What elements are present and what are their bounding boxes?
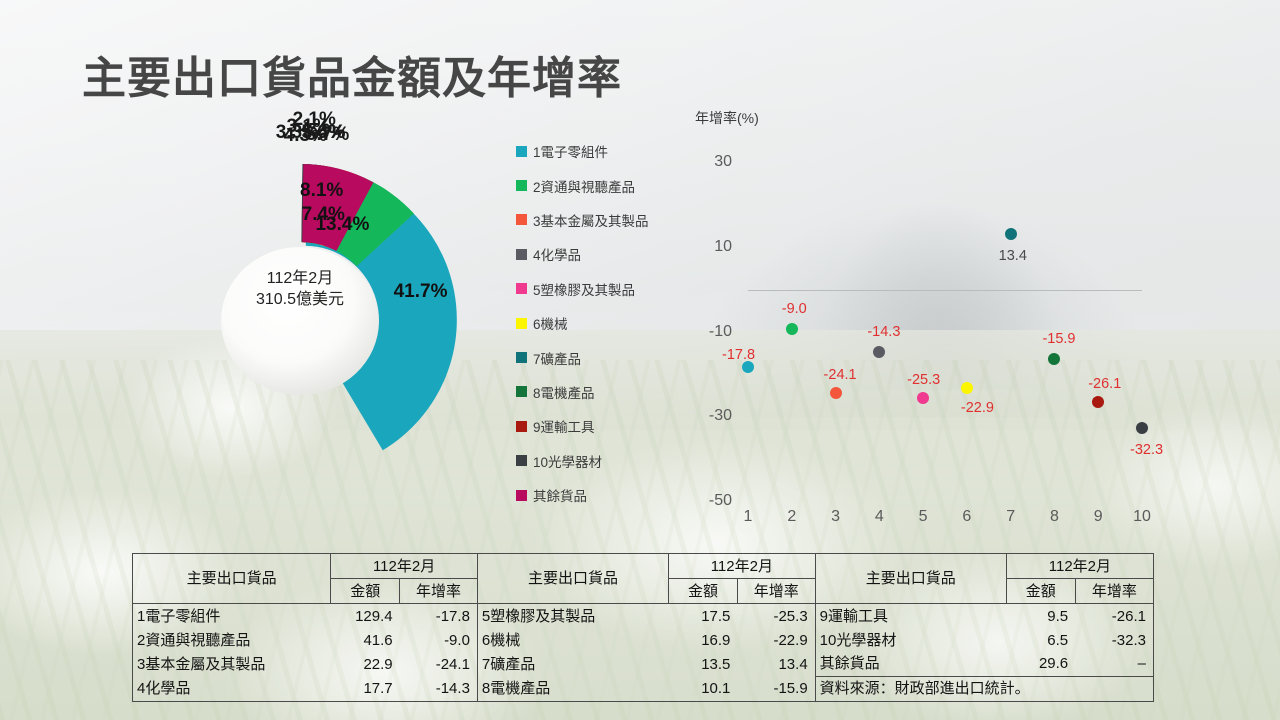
table-header-growth: 年增率 [1075,579,1153,604]
scatter-x-tick-label: 5 [910,508,936,526]
table-cell-growth: 13.4 [737,652,815,677]
table-cell-growth: -26.1 [1075,604,1153,629]
table-header-growth: 年增率 [737,579,815,604]
scatter-y-tick-label: -10 [688,323,732,341]
table-row: 2資通與視聽產品41.6-9.06機械16.9-22.910光學器材6.5-32… [133,628,1153,652]
legend-item-label: 7礦產品 [533,348,581,368]
table-header-period: 112年2月 [1006,554,1153,579]
table-cell-item: 6機械 [477,628,668,652]
scatter-point[interactable] [961,382,973,394]
table-cell-amount: 6.5 [1006,628,1075,652]
scatter-y-tick-label: -50 [688,492,732,510]
legend-swatch-icon [516,386,527,397]
table-cell-amount: 10.1 [669,676,738,701]
scatter-point[interactable] [786,323,798,335]
legend-item-label: 9運輸工具 [533,416,595,436]
legend-item[interactable]: 1電子零組件 [516,134,649,168]
table-cell-growth: -32.3 [1075,628,1153,652]
table-cell-item: 5塑橡膠及其製品 [477,604,668,629]
donut-slice-label: 41.7% [394,281,448,303]
scatter-point-label: -24.1 [824,367,857,383]
table-header-amount: 金額 [669,579,738,604]
table-cell-amount: 13.5 [669,652,738,677]
scatter-y-tick-label: 10 [688,238,732,256]
table-cell-item: 8電機產品 [477,676,668,701]
table-cell-amount: 17.5 [669,604,738,629]
table-cell-growth: -25.3 [737,604,815,629]
scatter-point-label: -15.9 [1042,331,1075,347]
legend-item[interactable]: 6機械 [516,306,649,340]
scatter-x-tick-label: 9 [1085,508,1111,526]
scatter-point[interactable] [1048,353,1060,365]
table-source-note: 資料來源：財政部進出口統計。 [815,676,1153,701]
legend-item-label: 4化學品 [533,244,581,264]
table-cell-growth: -9.0 [400,628,478,652]
table-cell-amount: 29.6 [1006,652,1075,677]
legend-item-label: 10光學器材 [533,451,602,471]
donut-chart-svg [80,105,500,515]
table-header-amount: 金額 [1006,579,1075,604]
data-table-grid: 主要出口貨品112年2月主要出口貨品112年2月主要出口貨品112年2月金額年增… [133,554,1153,701]
legend-swatch-icon [516,249,527,260]
legend-item[interactable]: 7礦產品 [516,340,649,374]
scatter-point[interactable] [917,392,929,404]
scatter-point[interactable] [1005,228,1017,240]
legend-item[interactable]: 4化學品 [516,237,649,271]
table-row: 3基本金屬及其製品22.9-24.17礦產品13.513.4其餘貨品29.6– [133,652,1153,677]
scatter-point-label: -25.3 [907,372,940,388]
legend-swatch-icon [516,455,527,466]
table-cell-amount: 9.5 [1006,604,1075,629]
scatter-zero-line [748,290,1142,291]
table-cell-item: 4化學品 [133,676,331,701]
table-cell-growth: -22.9 [737,628,815,652]
scatter-point[interactable] [1092,396,1104,408]
donut-slice-label: 2.1% [293,109,336,131]
legend-item[interactable]: 5塑橡膠及其製品 [516,272,649,306]
table-row: 4化學品17.7-14.38電機產品10.1-15.9資料來源：財政部進出口統計… [133,676,1153,701]
donut-chart: 112年2月 310.5億美元 41.7%13.4%7.4%5.7%5.6%5.… [80,105,500,515]
legend-item[interactable]: 3基本金屬及其製品 [516,203,649,237]
table-header-period: 112年2月 [331,554,478,579]
legend-item[interactable]: 2資通與視聽產品 [516,168,649,202]
legend-swatch-icon [516,180,527,191]
scatter-x-tick-label: 10 [1129,508,1155,526]
table-cell-item: 其餘貨品 [815,652,1006,677]
table-cell-growth: – [1075,652,1153,677]
table-cell-item: 10光學器材 [815,628,1006,652]
table-cell-growth: -17.8 [400,604,478,629]
scatter-point-label: 13.4 [999,248,1027,264]
table-header-item: 主要出口貨品 [133,554,331,604]
legend-swatch-icon [516,283,527,294]
scatter-point-label: -17.8 [722,347,755,363]
legend-item-label: 1電子零組件 [533,141,608,161]
legend-item-label: 3基本金屬及其製品 [533,210,649,230]
table-cell-item: 9運輸工具 [815,604,1006,629]
scatter-point[interactable] [873,346,885,358]
legend-item-label: 2資通與視聽產品 [533,176,635,196]
table-header-item: 主要出口貨品 [815,554,1006,604]
table-header-growth: 年增率 [400,579,478,604]
scatter-point[interactable] [1136,422,1148,434]
donut-center-line2: 310.5億美元 [235,289,365,310]
table-cell-item: 1電子零組件 [133,604,331,629]
legend-item-label: 6機械 [533,313,568,333]
scatter-point[interactable] [830,387,842,399]
scatter-axis-title: 年增率(%) [695,108,759,128]
scatter-x-tick-label: 3 [823,508,849,526]
legend-item[interactable]: 10光學器材 [516,444,649,478]
legend-item-label: 5塑橡膠及其製品 [533,279,635,299]
scatter-x-tick-label: 8 [1041,508,1067,526]
legend-swatch-icon [516,146,527,157]
legend-swatch-icon [516,490,527,501]
scatter-point-label: -22.9 [961,400,994,416]
legend-item[interactable]: 9運輸工具 [516,409,649,443]
scatter-x-tick-label: 4 [866,508,892,526]
table-cell-amount: 22.9 [331,652,400,677]
table-cell-growth: -15.9 [737,676,815,701]
legend-swatch-icon [516,318,527,329]
table-cell-growth: -24.1 [400,652,478,677]
donut-center-label: 112年2月 310.5億美元 [235,268,365,310]
legend-swatch-icon [516,214,527,225]
data-table: 主要出口貨品112年2月主要出口貨品112年2月主要出口貨品112年2月金額年增… [132,553,1154,702]
legend-swatch-icon [516,421,527,432]
table-cell-item: 3基本金屬及其製品 [133,652,331,677]
table-header-amount: 金額 [331,579,400,604]
table-header-item: 主要出口貨品 [477,554,668,604]
scatter-y-tick-label: -30 [688,407,732,425]
table-row: 1電子零組件129.4-17.85塑橡膠及其製品17.5-25.39運輸工具9.… [133,604,1153,629]
legend-swatch-icon [516,352,527,363]
scatter-point-label: -9.0 [782,301,807,317]
table-cell-amount: 17.7 [331,676,400,701]
table-cell-growth: -14.3 [400,676,478,701]
scatter-x-tick-label: 7 [998,508,1024,526]
data-table-body: 主要出口貨品112年2月主要出口貨品112年2月主要出口貨品112年2月金額年增… [133,554,1153,701]
scatter-point-label: -14.3 [867,324,900,340]
page-title: 主要出口貨品金額及年增率 [82,42,622,106]
table-header-row: 主要出口貨品112年2月主要出口貨品112年2月主要出口貨品112年2月 [133,554,1153,579]
scatter-point-label: -32.3 [1130,442,1163,458]
scatter-x-tick-label: 2 [779,508,805,526]
table-cell-amount: 129.4 [331,604,400,629]
chart-legend: 1電子零組件2資通與視聽產品3基本金屬及其製品4化學品5塑橡膠及其製品6機械7礦… [516,134,649,512]
scatter-chart: 年增率(%) 3010-10-30-50 12345678910 -17.8-9… [688,108,1168,538]
scatter-y-tick-label: 30 [688,153,732,171]
table-cell-item: 2資通與視聽產品 [133,628,331,652]
legend-item[interactable]: 其餘貨品 [516,478,649,512]
legend-item-label: 其餘貨品 [533,485,587,505]
donut-center-line1: 112年2月 [235,268,365,289]
legend-item[interactable]: 8電機產品 [516,375,649,409]
table-cell-amount: 16.9 [669,628,738,652]
legend-item-label: 8電機產品 [533,382,595,402]
table-cell-item: 7礦產品 [477,652,668,677]
donut-slice-label: 8.1% [300,180,343,202]
table-header-period: 112年2月 [669,554,816,579]
table-cell-amount: 41.6 [331,628,400,652]
scatter-x-tick-label: 6 [954,508,980,526]
scatter-point-label: -26.1 [1088,376,1121,392]
scatter-x-tick-label: 1 [735,508,761,526]
donut-slice-label: 7.4% [302,204,345,226]
